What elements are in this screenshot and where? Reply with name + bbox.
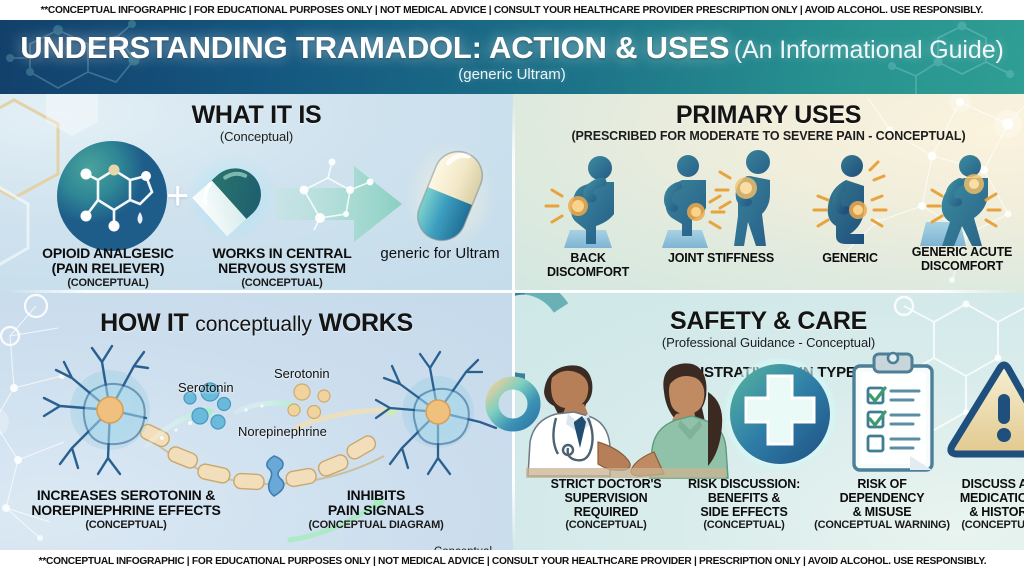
pill-capsule-icon — [404, 138, 496, 254]
title-bold-first: HOW IT — [100, 309, 188, 337]
caption-opioid-analgesic: OPIOID ANALGESIC (PAIN RELIEVER) (CONCEP… — [8, 246, 208, 289]
caption-line-2: DISCOMFORT — [528, 266, 648, 280]
caption-line-3: SIDE EFFECTS — [668, 506, 820, 520]
center-ring-icon — [484, 375, 542, 433]
top-disclaimer-text: **CONCEPTUAL INFOGRAPHIC | FOR EDUCATION… — [41, 4, 983, 16]
caption-line-2: PAIN SIGNALS — [276, 503, 476, 518]
caption-line-2: (PAIN RELIEVER) — [8, 261, 208, 276]
page-subtitle: (An Informational Guide) — [734, 36, 1004, 64]
safety-care-subtitle: (Professional Guidance - Conceptual) — [513, 335, 1024, 350]
caption-line-1: WORKS IN CENTRAL — [184, 246, 380, 261]
horizontal-divider — [6, 290, 1018, 293]
caption-line-1: DISCUSS ALL — [932, 478, 1024, 492]
serotonin-molecules-gold-icon — [284, 378, 350, 430]
back-pain-icon — [540, 152, 636, 250]
caption-line-2: NOREPINEPHRINE EFFECTS — [6, 503, 246, 518]
page-title: UNDERSTANDING TRAMADOL: ACTION & USES — [20, 30, 729, 65]
caption-line-1: BACK — [528, 252, 648, 266]
molecule-circle-icon — [56, 140, 168, 252]
caption-line-2: NERVOUS SYSTEM — [184, 261, 380, 276]
caption-line-2: BENEFITS & — [668, 492, 820, 506]
receptor-icon — [262, 454, 298, 498]
caption-line-2: DISCOMFORT — [900, 260, 1024, 274]
warning-triangle-icon — [948, 358, 1024, 470]
caption-line-1: OPIOID ANALGESIC — [8, 246, 208, 261]
how-it-works-header: HOW IT conceptually WORKS — [0, 310, 513, 336]
what-it-is-title: WHAT IT IS — [0, 102, 513, 128]
caption-back-discomfort: BACK DISCOMFORT — [528, 252, 648, 280]
safety-care-header: SAFETY & CARE (Professional Guidance - C… — [513, 308, 1024, 350]
caption-line-1: INCREASES SEROTONIN & — [6, 488, 246, 503]
caption-central-nervous-system: WORKS IN CENTRAL NERVOUS SYSTEM (CONCEPT… — [184, 246, 380, 289]
caption-generic: GENERIC — [792, 252, 908, 266]
how-it-works-title: HOW IT conceptually WORKS — [0, 310, 513, 336]
small-molecule-net-icon — [288, 156, 384, 234]
caption-note: (CONCEPTUAL) — [932, 519, 1024, 531]
infographic-poster: **CONCEPTUAL INFOGRAPHIC | FOR EDUCATION… — [0, 0, 1024, 572]
caption-line-1: JOINT STIFFNESS — [646, 252, 796, 266]
doctor-patient-icon — [526, 356, 726, 478]
caption-line-1: GENERIC ACUTE — [900, 246, 1024, 260]
capsule-icon — [184, 146, 280, 248]
caption-increases-serotonin: INCREASES SEROTONIN & NOREPINEPHRINE EFF… — [6, 488, 246, 531]
caption-note: (CONCEPTUAL) — [668, 519, 820, 531]
caption-generic-acute-discomfort: GENERIC ACUTE DISCOMFORT — [900, 246, 1024, 274]
joint-pain-icon — [654, 152, 726, 250]
title-bold-second: WORKS — [319, 309, 413, 337]
header-banner: UNDERSTANDING TRAMADOL: ACTION & USES (A… — [0, 20, 1024, 94]
primary-uses-header: PRIMARY USES (PRESCRIBED FOR MODERATE TO… — [513, 102, 1024, 143]
bottom-disclaimer-text: **CONCEPTUAL INFOGRAPHIC | FOR EDUCATION… — [38, 555, 986, 567]
top-disclaimer-bar: **CONCEPTUAL INFOGRAPHIC | FOR EDUCATION… — [0, 0, 1024, 20]
primary-uses-subtitle: (PRESCRIBED FOR MODERATE TO SEVERE PAIN … — [513, 129, 1024, 143]
acute-pain-icon — [916, 150, 1004, 250]
caption-line-1: RISK DISCUSSION: — [668, 478, 820, 492]
generic-name-label: (generic Ultram) — [458, 66, 566, 83]
clipboard-checklist-icon — [848, 352, 938, 474]
caption-line-1: INHIBITS — [276, 488, 476, 503]
medical-cross-icon — [722, 356, 838, 472]
generic-pain-icon — [808, 152, 892, 250]
caption-line-1: GENERIC — [792, 252, 908, 266]
joint-pain-standing-icon — [718, 148, 790, 250]
primary-uses-title: PRIMARY USES — [513, 102, 1024, 128]
header-title-line: UNDERSTANDING TRAMADOL: ACTION & USES (A… — [20, 32, 1003, 63]
caption-discuss-medications: DISCUSS ALL MEDICATIONS & HISTORY (CONCE… — [932, 478, 1024, 531]
serotonin-left-label: Serotonin — [178, 380, 234, 395]
caption-line-2: MEDICATIONS — [932, 492, 1024, 506]
caption-line-3: (CONCEPTUAL) — [6, 519, 246, 531]
title-light-word: conceptually — [195, 313, 312, 336]
caption-risk-discussion: RISK DISCUSSION: BENEFITS & SIDE EFFECTS… — [668, 478, 820, 531]
caption-joint-stiffness: JOINT STIFFNESS — [646, 252, 796, 266]
serotonin-right-label: Serotonin — [274, 366, 330, 381]
caption-line-3: (CONCEPTUAL) — [184, 277, 380, 289]
caption-inhibits-pain-signals: INHIBITS PAIN SIGNALS (CONCEPTUAL DIAGRA… — [276, 488, 476, 531]
caption-line-3: (CONCEPTUAL) — [8, 277, 208, 289]
bottom-disclaimer-bar: **CONCEPTUAL INFOGRAPHIC | FOR EDUCATION… — [0, 550, 1024, 572]
caption-line-3: & HISTORY — [932, 506, 1024, 520]
body-canvas: WHAT IT IS (Conceptual) — [0, 94, 1024, 550]
caption-line-3: (CONCEPTUAL DIAGRAM) — [276, 519, 476, 531]
norepinephrine-label: Norepinephrine — [238, 424, 327, 439]
safety-care-title: SAFETY & CARE — [513, 308, 1024, 334]
